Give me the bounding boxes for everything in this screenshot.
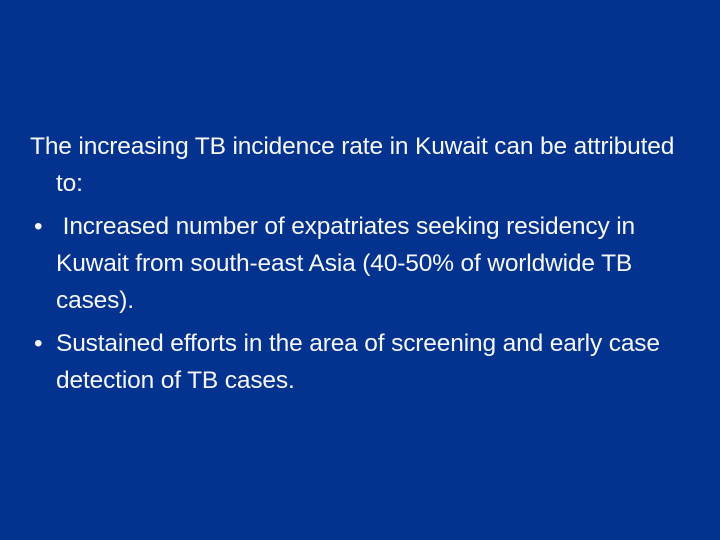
bullet-list-item: • Sustained efforts in the area of scree… — [30, 325, 694, 399]
presentation-slide: The increasing TB incidence rate in Kuwa… — [0, 0, 720, 540]
intro-paragraph: The increasing TB incidence rate in Kuwa… — [30, 128, 694, 202]
bullet-item-text: Increased number of expatriates seeking … — [56, 208, 694, 319]
bullet-point-icon: • — [30, 208, 56, 245]
bullet-item-text: Sustained efforts in the area of screeni… — [56, 325, 694, 399]
slide-content-body: The increasing TB incidence rate in Kuwa… — [30, 128, 694, 399]
bullet-list-item: • Increased number of expatriates seekin… — [30, 208, 694, 319]
bullet-point-icon: • — [30, 325, 56, 362]
